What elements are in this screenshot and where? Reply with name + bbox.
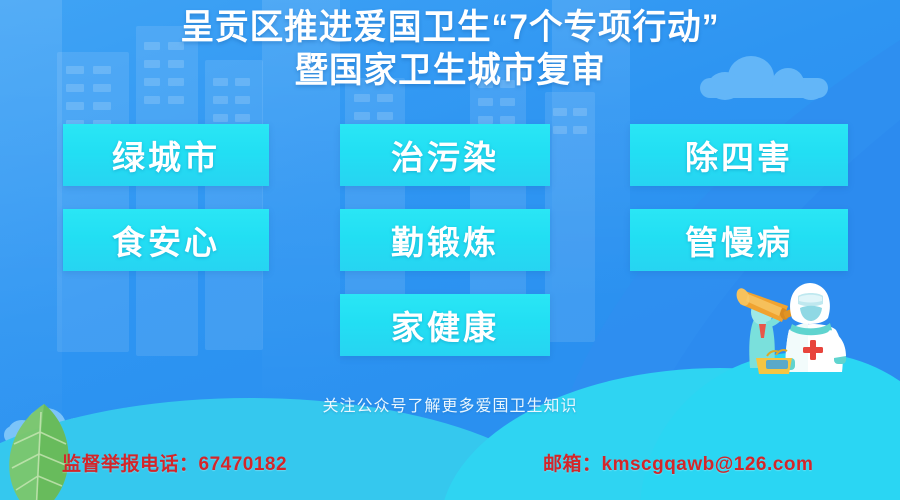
action-label: 家健康 [391, 301, 499, 349]
action-button-family-health[interactable]: 家健康 [340, 294, 550, 356]
action-label: 食安心 [112, 216, 220, 264]
action-label: 勤锻炼 [391, 216, 499, 264]
action-button-chronic-disease[interactable]: 管慢病 [630, 209, 848, 271]
action-button-pest-control[interactable]: 除四害 [630, 124, 848, 186]
action-label: 治污染 [391, 131, 499, 179]
follow-note: 关注公众号了解更多爱国卫生知识 [0, 392, 900, 416]
action-button-pollution-control[interactable]: 治污染 [340, 124, 550, 186]
action-label: 管慢病 [685, 216, 793, 264]
medical-worker-illustration [726, 272, 886, 382]
hotline-text: 监督举报电话：67470182 [62, 449, 287, 476]
email-text: 邮箱：kmscgqawb@126.com [543, 449, 813, 476]
poster-canvas: 呈贡区推进爱国卫生“7个专项行动” 暨国家卫生城市复审 绿城市 治污染 除四害 … [0, 0, 900, 500]
action-label: 绿城市 [112, 131, 220, 179]
action-button-exercise[interactable]: 勤锻炼 [340, 209, 550, 271]
action-button-green-city[interactable]: 绿城市 [63, 124, 269, 186]
action-button-grid: 绿城市 治污染 除四害 食安心 勤锻炼 管慢病 家健康 [0, 0, 900, 500]
action-label: 除四害 [685, 131, 793, 179]
ppe-medical-worker-figure [784, 283, 846, 372]
action-button-food-safety[interactable]: 食安心 [63, 209, 269, 271]
